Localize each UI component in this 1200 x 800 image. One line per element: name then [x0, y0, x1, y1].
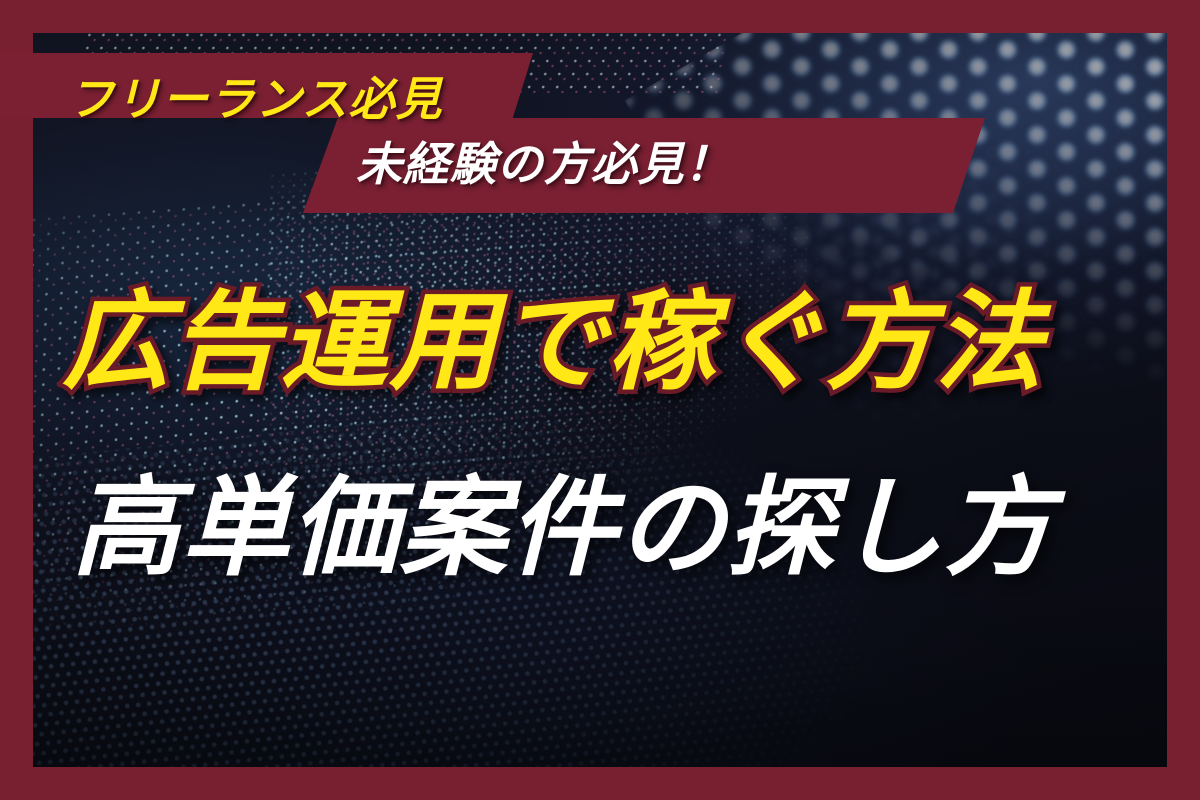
thumbnail-canvas: フリーランス必見 未経験の方必見！ 広告運用で稼ぐ方法 高単価案件の探し方 [0, 0, 1200, 800]
headline-line-1: 広告運用で稼ぐ方法 [62, 288, 1044, 396]
headline-line-2: 高単価案件の探し方 [72, 474, 1054, 582]
banner-label-freelance: フリーランス必見 [68, 76, 442, 122]
banner-label-beginner: 未経験の方必見！ [356, 141, 731, 187]
